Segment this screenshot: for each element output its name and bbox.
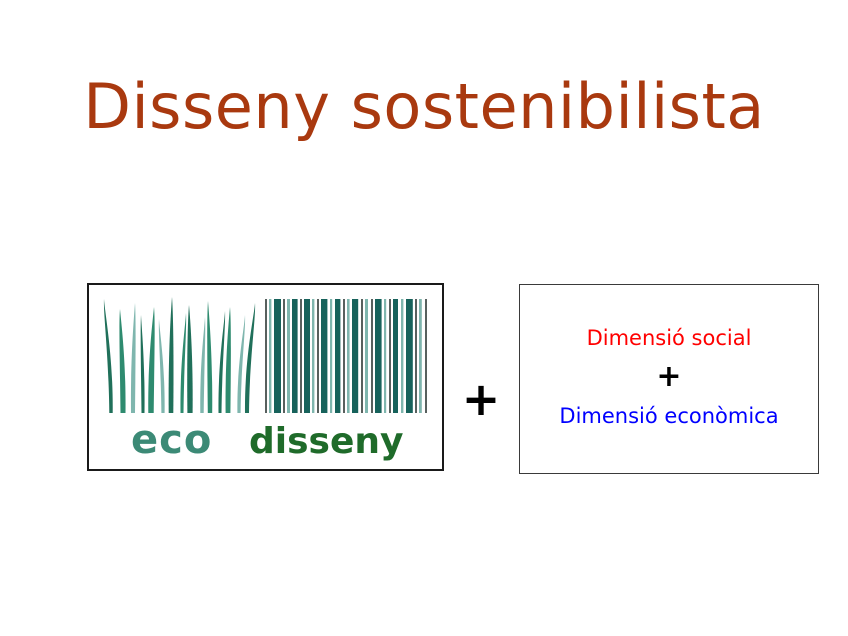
barcode-bar — [292, 299, 298, 413]
grass-blade — [131, 303, 136, 413]
barcode-bar — [406, 299, 413, 413]
eco-disseny-logo: eco disseny — [89, 285, 442, 469]
barcode-bar — [425, 299, 427, 413]
dimensio-economica-label: Dimensió econòmica — [559, 404, 778, 428]
grass-blade — [245, 303, 255, 413]
page-title: Disseny sostenibilista — [0, 74, 848, 139]
barcode-bar — [393, 299, 398, 413]
barcode-bar — [371, 299, 373, 413]
barcode-bar — [274, 299, 281, 413]
barcode-bar — [375, 299, 382, 413]
grass-blade — [187, 305, 192, 413]
barcode-bar — [352, 299, 358, 413]
barcode-bar — [415, 299, 417, 413]
barcode-bar — [330, 299, 332, 413]
barcode-bar — [347, 299, 350, 413]
barcode-bar — [384, 299, 386, 413]
barcode-bar — [300, 299, 302, 413]
eco-disseny-panel: eco disseny — [87, 283, 444, 471]
plus-operator-in-panel: + — [656, 362, 681, 392]
grass-blade — [200, 317, 205, 413]
barcode-bar — [335, 299, 340, 413]
grass-blade — [119, 309, 125, 413]
barcode-bar — [317, 299, 319, 413]
barcode-bar — [401, 299, 403, 413]
barcode-bars-group — [265, 299, 427, 413]
barcode-bar — [304, 299, 310, 413]
barcode-bar — [269, 299, 271, 413]
grass-blade — [207, 301, 212, 413]
grass-blade — [159, 319, 165, 413]
barcode-bar — [312, 299, 314, 413]
grass-blade — [141, 315, 145, 413]
grass-blade — [169, 297, 174, 413]
barcode-bar — [389, 299, 391, 413]
grass-blade — [218, 311, 225, 413]
dimensions-stack: Dimensió social + Dimensió econòmica — [520, 285, 818, 473]
eco-wordmark: eco — [131, 417, 212, 463]
barcode-bar — [321, 299, 327, 413]
grass-blade — [237, 315, 245, 413]
dimensions-panel: Dimensió social + Dimensió econòmica — [519, 284, 819, 474]
disseny-wordmark: disseny — [249, 421, 403, 462]
barcode-bar — [265, 299, 267, 413]
barcode-bar — [365, 299, 368, 413]
barcode-bar — [287, 299, 290, 413]
grass-blade — [180, 313, 186, 413]
barcode-bar — [361, 299, 363, 413]
plus-operator-between-panels: + — [458, 376, 504, 422]
barcode-bar — [419, 299, 422, 413]
barcode-bar — [283, 299, 285, 413]
grass-blade — [148, 307, 154, 413]
grass-blade — [226, 307, 231, 413]
dimensio-social-label: Dimensió social — [587, 326, 752, 350]
barcode-bar — [343, 299, 345, 413]
slide-canvas: Disseny sostenibilista eco disseny + Dim… — [0, 0, 848, 636]
grass-blade — [104, 299, 113, 413]
grass-blades-group — [104, 297, 255, 413]
